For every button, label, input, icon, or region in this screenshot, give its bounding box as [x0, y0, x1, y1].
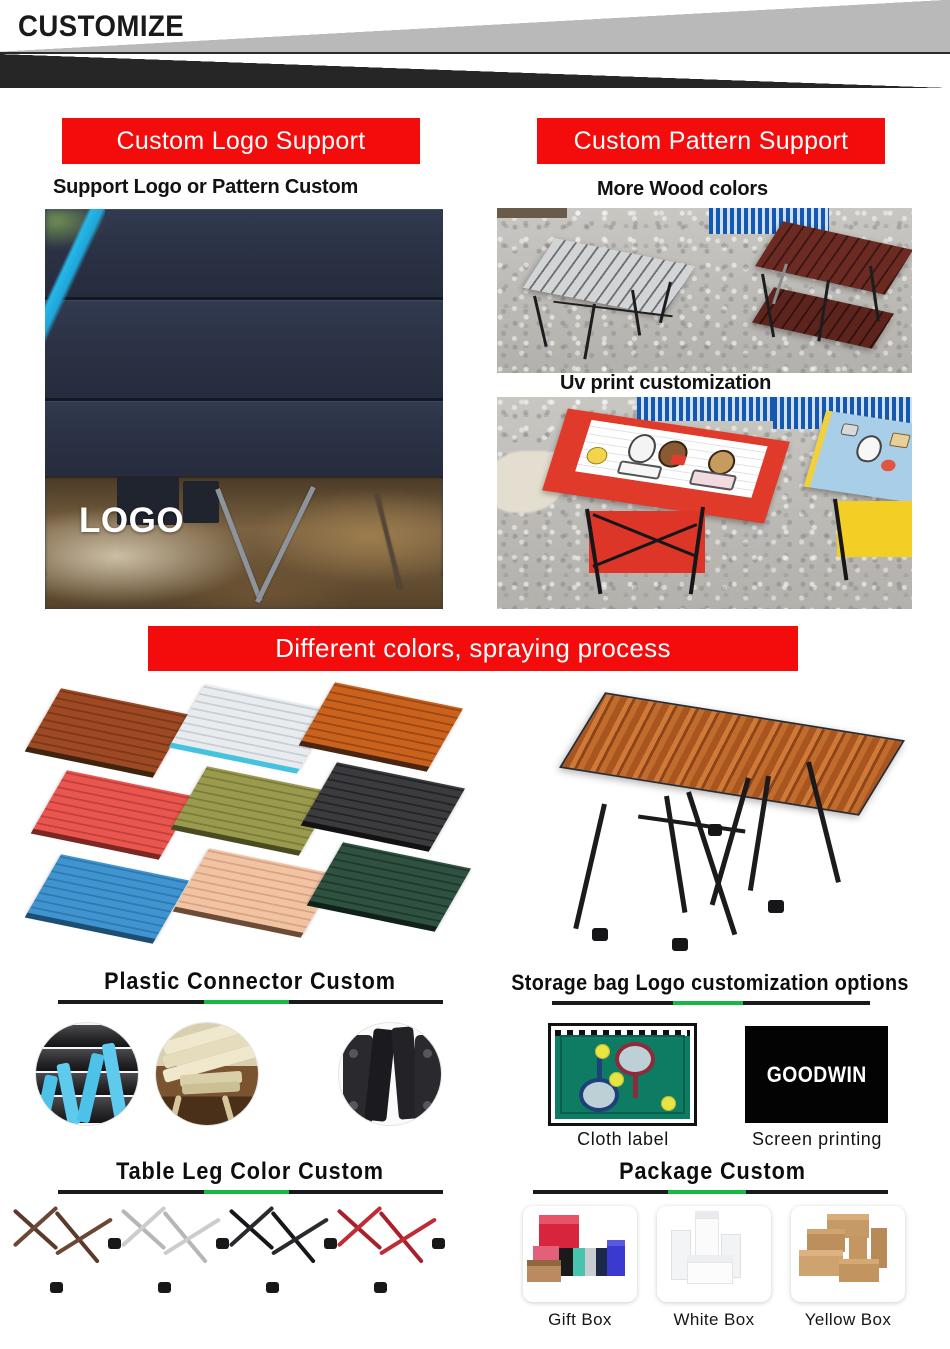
table-foot: [592, 928, 608, 941]
table-leg: [664, 796, 687, 913]
caption-white-box: White Box: [644, 1310, 784, 1330]
subtitle-uv-print-customization: Uv print customization: [560, 372, 771, 395]
table-slat: [45, 401, 443, 476]
photo-wood-color-tables: [497, 208, 912, 373]
tennis-ball: [595, 1044, 610, 1059]
badge-different-colors: Different colors, spraying process: [148, 626, 798, 671]
cloth-label-sample: [551, 1026, 694, 1123]
table-joint: [708, 824, 722, 836]
leg-frame-brown: [12, 1204, 116, 1304]
rivet: [423, 1049, 432, 1058]
screen-printing-sample: GOODWIN: [745, 1026, 888, 1123]
art-detail: [617, 460, 663, 480]
badge-custom-logo-support: Custom Logo Support: [62, 118, 420, 164]
tennis-racket: [615, 1042, 655, 1076]
swatch-orange-wood: [301, 682, 463, 767]
table-leg: [710, 777, 751, 905]
page-header: CUSTOMIZE: [0, 0, 950, 88]
gift-box-blue: [607, 1246, 625, 1276]
white-box-flat: [687, 1262, 733, 1284]
subtitle-support-logo-or-pattern: Support Logo or Pattern Custom: [53, 176, 358, 199]
blue-table-edge: [45, 209, 105, 353]
chick-character: [584, 446, 609, 466]
table-foot: [672, 938, 688, 951]
tennis-ball: [661, 1096, 676, 1111]
art-detail: [880, 459, 897, 473]
photo-wood-folding-table: [560, 700, 910, 950]
wood-table-top: [559, 692, 905, 815]
swatch-dark-green: [309, 842, 471, 927]
rabbit-character: [625, 432, 660, 464]
leg-frame-silver: [120, 1204, 224, 1304]
leg-frame-red: [336, 1204, 440, 1304]
card-white-box: [657, 1206, 771, 1302]
table-bracket: [183, 481, 219, 523]
divider-plastic-connector: [58, 1000, 443, 1004]
divider-storage-bag: [552, 1001, 870, 1005]
art-detail: [889, 432, 911, 448]
photo-beige-connector: [155, 1022, 259, 1126]
page-title: CUSTOMIZE: [18, 10, 184, 44]
gift-box-kraft-open: [527, 1266, 561, 1282]
yellow-storage-sling: [837, 501, 912, 557]
caption-cloth-label: Cloth label: [528, 1129, 718, 1150]
leg-frame-black: [228, 1204, 332, 1304]
photo-black-connector: [338, 1022, 442, 1126]
kraft-box: [799, 1256, 843, 1276]
card-gift-box: [523, 1206, 637, 1302]
photo-logo-table: LOGO: [45, 209, 443, 609]
divider-table-leg: [58, 1190, 443, 1194]
rivet: [423, 1101, 432, 1110]
caption-gift-box: Gift Box: [510, 1310, 650, 1330]
heading-table-leg-color: Table Leg Color Custom: [75, 1158, 426, 1186]
swatch-black: [303, 762, 465, 847]
swatch-red: [33, 770, 195, 855]
brand-text: GOODWIN: [767, 1062, 867, 1088]
header-black-wedge: [0, 54, 950, 88]
photo-cyan-connector: [35, 1022, 139, 1126]
table-leg-color-row: [12, 1204, 452, 1309]
logo-overlay-text: LOGO: [79, 501, 184, 541]
tennis-ball: [609, 1072, 624, 1087]
table-foot: [768, 900, 784, 913]
art-detail: [840, 423, 859, 437]
art-detail: [670, 454, 687, 466]
photo-uv-print-tables: [497, 397, 912, 609]
rivet: [349, 1049, 358, 1058]
heading-package-custom: Package Custom: [575, 1158, 850, 1186]
card-yellow-box: [791, 1206, 905, 1302]
table-crossbar: [638, 814, 746, 833]
subtitle-more-wood-colors: More Wood colors: [597, 178, 768, 201]
heading-plastic-connector: Plastic Connector Custom: [75, 968, 426, 996]
divider-package: [533, 1190, 888, 1194]
background-object: [497, 208, 567, 218]
art-detail: [689, 469, 738, 491]
color-swatch-grid: [30, 690, 460, 935]
caption-screen-printing: Screen printing: [722, 1129, 912, 1150]
table-leg: [573, 803, 607, 929]
caption-yellow-box: Yellow Box: [778, 1310, 918, 1330]
badge-custom-pattern-support: Custom Pattern Support: [537, 118, 885, 164]
rivet: [349, 1101, 358, 1110]
kraft-box: [839, 1264, 879, 1282]
rabbit-character: [853, 434, 885, 464]
ground-blur: [45, 477, 443, 609]
swatch-blue: [27, 854, 189, 939]
swatch-red-brown-wood: [27, 688, 189, 773]
swatch-rose-gold: [175, 848, 337, 933]
table-leg: [686, 791, 737, 935]
black-slat: [35, 1025, 139, 1047]
heading-storage-bag-logo: Storage bag Logo customization options: [508, 970, 913, 996]
black-slat: [35, 1049, 139, 1071]
